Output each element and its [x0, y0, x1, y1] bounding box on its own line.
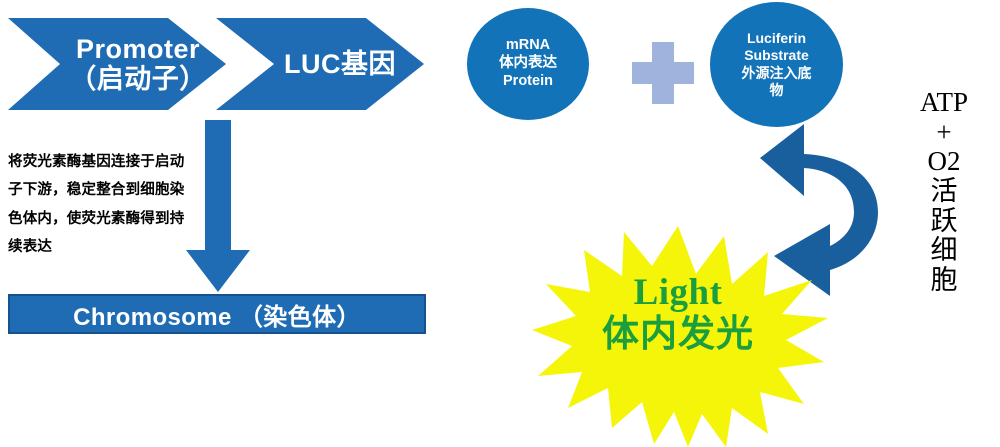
promoter-chevron-text: Promoter （启动子）: [69, 34, 207, 94]
atp-line-3: O2: [908, 147, 980, 177]
luc-gene-chevron-text: LUC基因: [284, 49, 396, 79]
mrna-line-3: Protein: [503, 73, 553, 91]
mrna-circle: mRNA 体内表达 Protein: [467, 8, 589, 120]
plus-icon-vertical-bar: [652, 42, 674, 104]
luciferin-line-1: Luciferin: [747, 30, 806, 47]
luc-gene-label: LUC基因: [284, 49, 396, 79]
promoter-label-en: Promoter: [69, 34, 207, 64]
diagram-canvas: Promoter （启动子） LUC基因 将荧光素酶基因连接于启动子下游，稳定整…: [0, 0, 1000, 430]
description-text: 将荧光素酶基因连接于启动子下游，稳定整合到细胞染色体内，使荧光素酶得到持续表达: [8, 148, 198, 261]
down-arrow-head: [186, 250, 250, 292]
luc-gene-chevron: LUC基因: [216, 18, 424, 110]
atp-line-2: +: [908, 118, 980, 148]
luciferin-circle: Luciferin Substrate 外源注入底 物: [710, 2, 843, 127]
luciferin-line-3: 外源注入底: [742, 65, 812, 82]
promoter-chevron: Promoter （启动子）: [8, 18, 226, 110]
down-arrow-shaft: [205, 120, 231, 260]
atp-line-5: 跃: [908, 207, 980, 237]
atp-vertical-text: ATP + O2 活 跃 细 胞: [908, 88, 980, 296]
chromosome-bar: Chromosome （染色体）: [8, 294, 426, 334]
mrna-line-2: 体内表达: [499, 55, 557, 73]
atp-line-7: 胞: [908, 266, 980, 296]
atp-line-1: ATP: [908, 88, 980, 118]
luciferin-line-4: 物: [770, 82, 784, 99]
atp-line-6: 细: [908, 236, 980, 266]
down-arrow-icon: [186, 120, 250, 292]
atp-line-4: 活: [908, 177, 980, 207]
luciferin-line-2: Substrate: [744, 47, 809, 64]
starburst-icon: [528, 222, 828, 447]
promoter-label-cn: （启动子）: [69, 64, 207, 94]
starburst-shape: [532, 226, 828, 447]
plus-icon: [632, 42, 694, 104]
mrna-line-1: mRNA: [506, 37, 550, 55]
